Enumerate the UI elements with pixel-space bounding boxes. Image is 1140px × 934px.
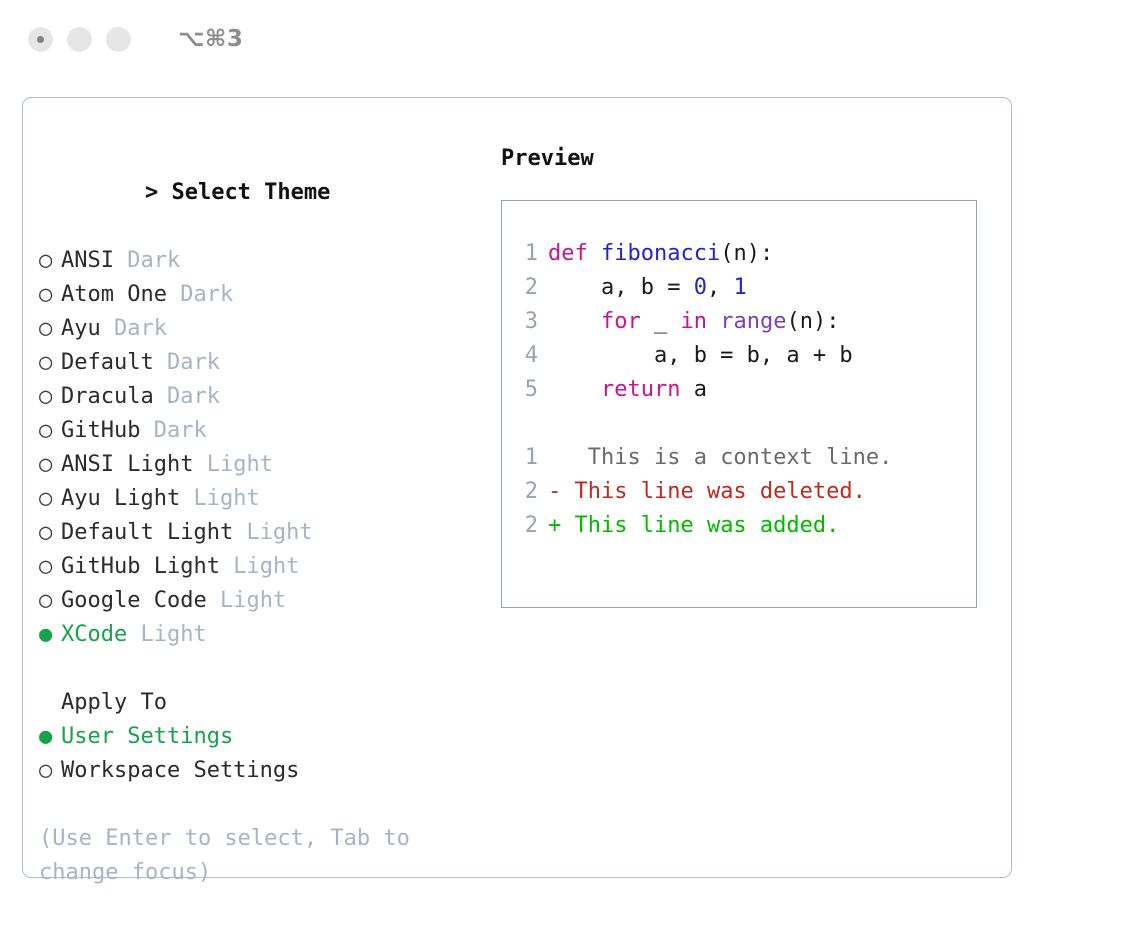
radio-unselected-icon: ○ (39, 550, 61, 584)
code-token-plain (548, 377, 601, 402)
window-dot-third-icon[interactable] (106, 27, 131, 52)
theme-option-label: Dracula (61, 384, 154, 409)
diff-sample: 1 This is a context line.2- This line wa… (502, 441, 976, 543)
code-token-builtin: range (720, 309, 786, 334)
window-dot-second-icon[interactable] (67, 27, 92, 52)
code-line-number: 5 (502, 373, 548, 407)
code-line: 3 for _ in range(n): (502, 305, 976, 339)
theme-option-label: Ayu Light (61, 486, 180, 511)
theme-option-ayu-light[interactable]: ○Ayu Light Light (39, 482, 489, 516)
spacer (140, 418, 153, 443)
theme-option-default[interactable]: ○Default Dark (39, 346, 489, 380)
window-controls (28, 27, 131, 52)
theme-option-badge: Light (140, 622, 206, 647)
radio-selected-icon: ● (39, 720, 61, 754)
apply-to-option-label: Workspace Settings (61, 758, 299, 783)
apply-to-option-workspace-settings[interactable]: ○Workspace Settings (39, 754, 489, 788)
code-token-kw: in (680, 309, 707, 334)
radio-unselected-icon: ○ (39, 584, 61, 618)
diff-marker: + (548, 513, 561, 538)
app-window: ⌥⌘3 > Select Theme ○ANSI Dark○Atom One D… (0, 0, 1140, 934)
theme-option-label: GitHub (61, 418, 140, 443)
code-token-plain: _ (641, 309, 681, 334)
radio-selected-icon: ● (39, 618, 61, 652)
main-panel: > Select Theme ○ANSI Dark○Atom One Dark○… (22, 97, 1012, 878)
theme-option-label: Ayu (61, 316, 101, 341)
theme-option-label: Google Code (61, 588, 207, 613)
diff-text: This is a context line. (561, 445, 892, 470)
diff-line: 1 This is a context line. (502, 441, 976, 475)
code-sample: 1def fibonacci(n):2 a, b = 0, 13 for _ i… (502, 237, 976, 407)
theme-option-ansi-light[interactable]: ○ANSI Light Light (39, 448, 489, 482)
theme-option-label: Default Light (61, 520, 233, 545)
theme-picker-header: > Select Theme (39, 142, 489, 244)
diff-line-number: 2 (502, 475, 548, 509)
theme-option-badge: Light (193, 486, 259, 511)
window-dot-active-icon[interactable] (28, 27, 53, 52)
diff-line: 2- This line was deleted. (502, 475, 976, 509)
radio-unselected-icon: ○ (39, 414, 61, 448)
code-token-plain: a (680, 377, 707, 402)
preview-column: Preview 1def fibonacci(n):2 a, b = 0, 13… (501, 142, 997, 608)
theme-option-ayu[interactable]: ○Ayu Dark (39, 312, 489, 346)
code-token-num: 1 (733, 275, 746, 300)
spacer (207, 588, 220, 613)
code-token-plain (548, 309, 601, 334)
code-line-number: 1 (502, 237, 548, 271)
radio-unselected-icon: ○ (39, 754, 61, 788)
theme-option-label: XCode (61, 622, 127, 647)
theme-option-ansi[interactable]: ○ANSI Dark (39, 244, 489, 278)
code-line-number: 2 (502, 271, 548, 305)
radio-unselected-icon: ○ (39, 380, 61, 414)
spacer (220, 554, 233, 579)
section-spacer (39, 652, 489, 686)
theme-option-badge: Dark (154, 418, 207, 443)
radio-unselected-icon: ○ (39, 312, 61, 346)
keyboard-shortcut-label: ⌥⌘3 (178, 26, 243, 52)
diff-marker: - (548, 479, 561, 504)
theme-option-atom-one[interactable]: ○Atom One Dark (39, 278, 489, 312)
radio-unselected-icon: ○ (39, 482, 61, 516)
theme-list[interactable]: ○ANSI Dark○Atom One Dark○Ayu Dark○Defaul… (39, 244, 489, 652)
theme-option-badge: Dark (180, 282, 233, 307)
theme-option-label: GitHub Light (61, 554, 220, 579)
theme-picker-column: > Select Theme ○ANSI Dark○Atom One Dark○… (39, 142, 489, 890)
code-line: 4 a, b = b, a + b (502, 339, 976, 373)
spacer (101, 316, 114, 341)
code-line-number: 3 (502, 305, 548, 339)
code-line: 5 return a (502, 373, 976, 407)
theme-option-label: Atom One (61, 282, 167, 307)
diff-text: This line was added. (561, 513, 839, 538)
theme-option-github-light[interactable]: ○GitHub Light Light (39, 550, 489, 584)
diff-line-number: 1 (502, 441, 548, 475)
theme-option-badge: Dark (167, 350, 220, 375)
diff-spacer (502, 407, 976, 441)
apply-to-list[interactable]: ●User Settings○Workspace Settings (39, 720, 489, 788)
radio-unselected-icon: ○ (39, 278, 61, 312)
code-token-kw: return (601, 377, 680, 402)
code-token-plain: (n): (720, 241, 773, 266)
spacer (193, 452, 206, 477)
diff-line-number: 2 (502, 509, 548, 543)
radio-unselected-icon: ○ (39, 516, 61, 550)
theme-option-badge: Light (220, 588, 286, 613)
theme-picker-header-text: > Select Theme (145, 180, 330, 205)
theme-option-badge: Light (233, 554, 299, 579)
spacer (114, 248, 127, 273)
theme-option-badge: Light (246, 520, 312, 545)
window-dot-inner (37, 36, 44, 43)
spacer (127, 622, 140, 647)
diff-marker (548, 445, 561, 470)
radio-unselected-icon: ○ (39, 346, 61, 380)
code-token-fn: fibonacci (601, 241, 720, 266)
preview-box: 1def fibonacci(n):2 a, b = 0, 13 for _ i… (501, 200, 977, 608)
theme-option-label: ANSI (61, 248, 114, 273)
diff-line: 2+ This line was added. (502, 509, 976, 543)
apply-to-header: Apply To (39, 686, 489, 720)
spacer (180, 486, 193, 511)
theme-option-badge: Dark (114, 316, 167, 341)
code-token-plain: , (707, 275, 734, 300)
radio-unselected-icon: ○ (39, 244, 61, 278)
code-line-number: 4 (502, 339, 548, 373)
theme-option-default-light[interactable]: ○Default Light Light (39, 516, 489, 550)
radio-unselected-icon: ○ (39, 448, 61, 482)
theme-option-label: ANSI Light (61, 452, 193, 477)
code-token-kw: for (601, 309, 641, 334)
theme-option-dracula[interactable]: ○Dracula Dark (39, 380, 489, 414)
theme-option-label: Default (61, 350, 154, 375)
theme-option-github[interactable]: ○GitHub Dark (39, 414, 489, 448)
keyboard-hint: (Use Enter to select, Tab to change focu… (39, 822, 439, 890)
code-line: 2 a, b = 0, 1 (502, 271, 976, 305)
theme-option-badge: Dark (167, 384, 220, 409)
apply-to-header-text: Apply To (61, 690, 167, 715)
apply-to-option-user-settings[interactable]: ●User Settings (39, 720, 489, 754)
theme-option-badge: Light (207, 452, 273, 477)
code-token-kw: def (548, 241, 588, 266)
code-token-plain: a, b = (548, 275, 694, 300)
code-token-plain: a, b = b, a + b (548, 343, 853, 368)
spacer (233, 520, 246, 545)
code-token-num: 0 (694, 275, 707, 300)
apply-to-option-label: User Settings (61, 724, 233, 749)
code-line: 1def fibonacci(n): (502, 237, 976, 271)
diff-text: This line was deleted. (561, 479, 866, 504)
theme-option-google-code[interactable]: ○Google Code Light (39, 584, 489, 618)
code-token-plain (707, 309, 720, 334)
preview-title: Preview (501, 142, 997, 176)
theme-option-badge: Dark (127, 248, 180, 273)
spacer (154, 350, 167, 375)
code-token-plain: (n): (786, 309, 839, 334)
code-token-plain (588, 241, 601, 266)
theme-option-xcode[interactable]: ●XCode Light (39, 618, 489, 652)
spacer (167, 282, 180, 307)
title-bar: ⌥⌘3 (0, 0, 1140, 78)
spacer (154, 384, 167, 409)
